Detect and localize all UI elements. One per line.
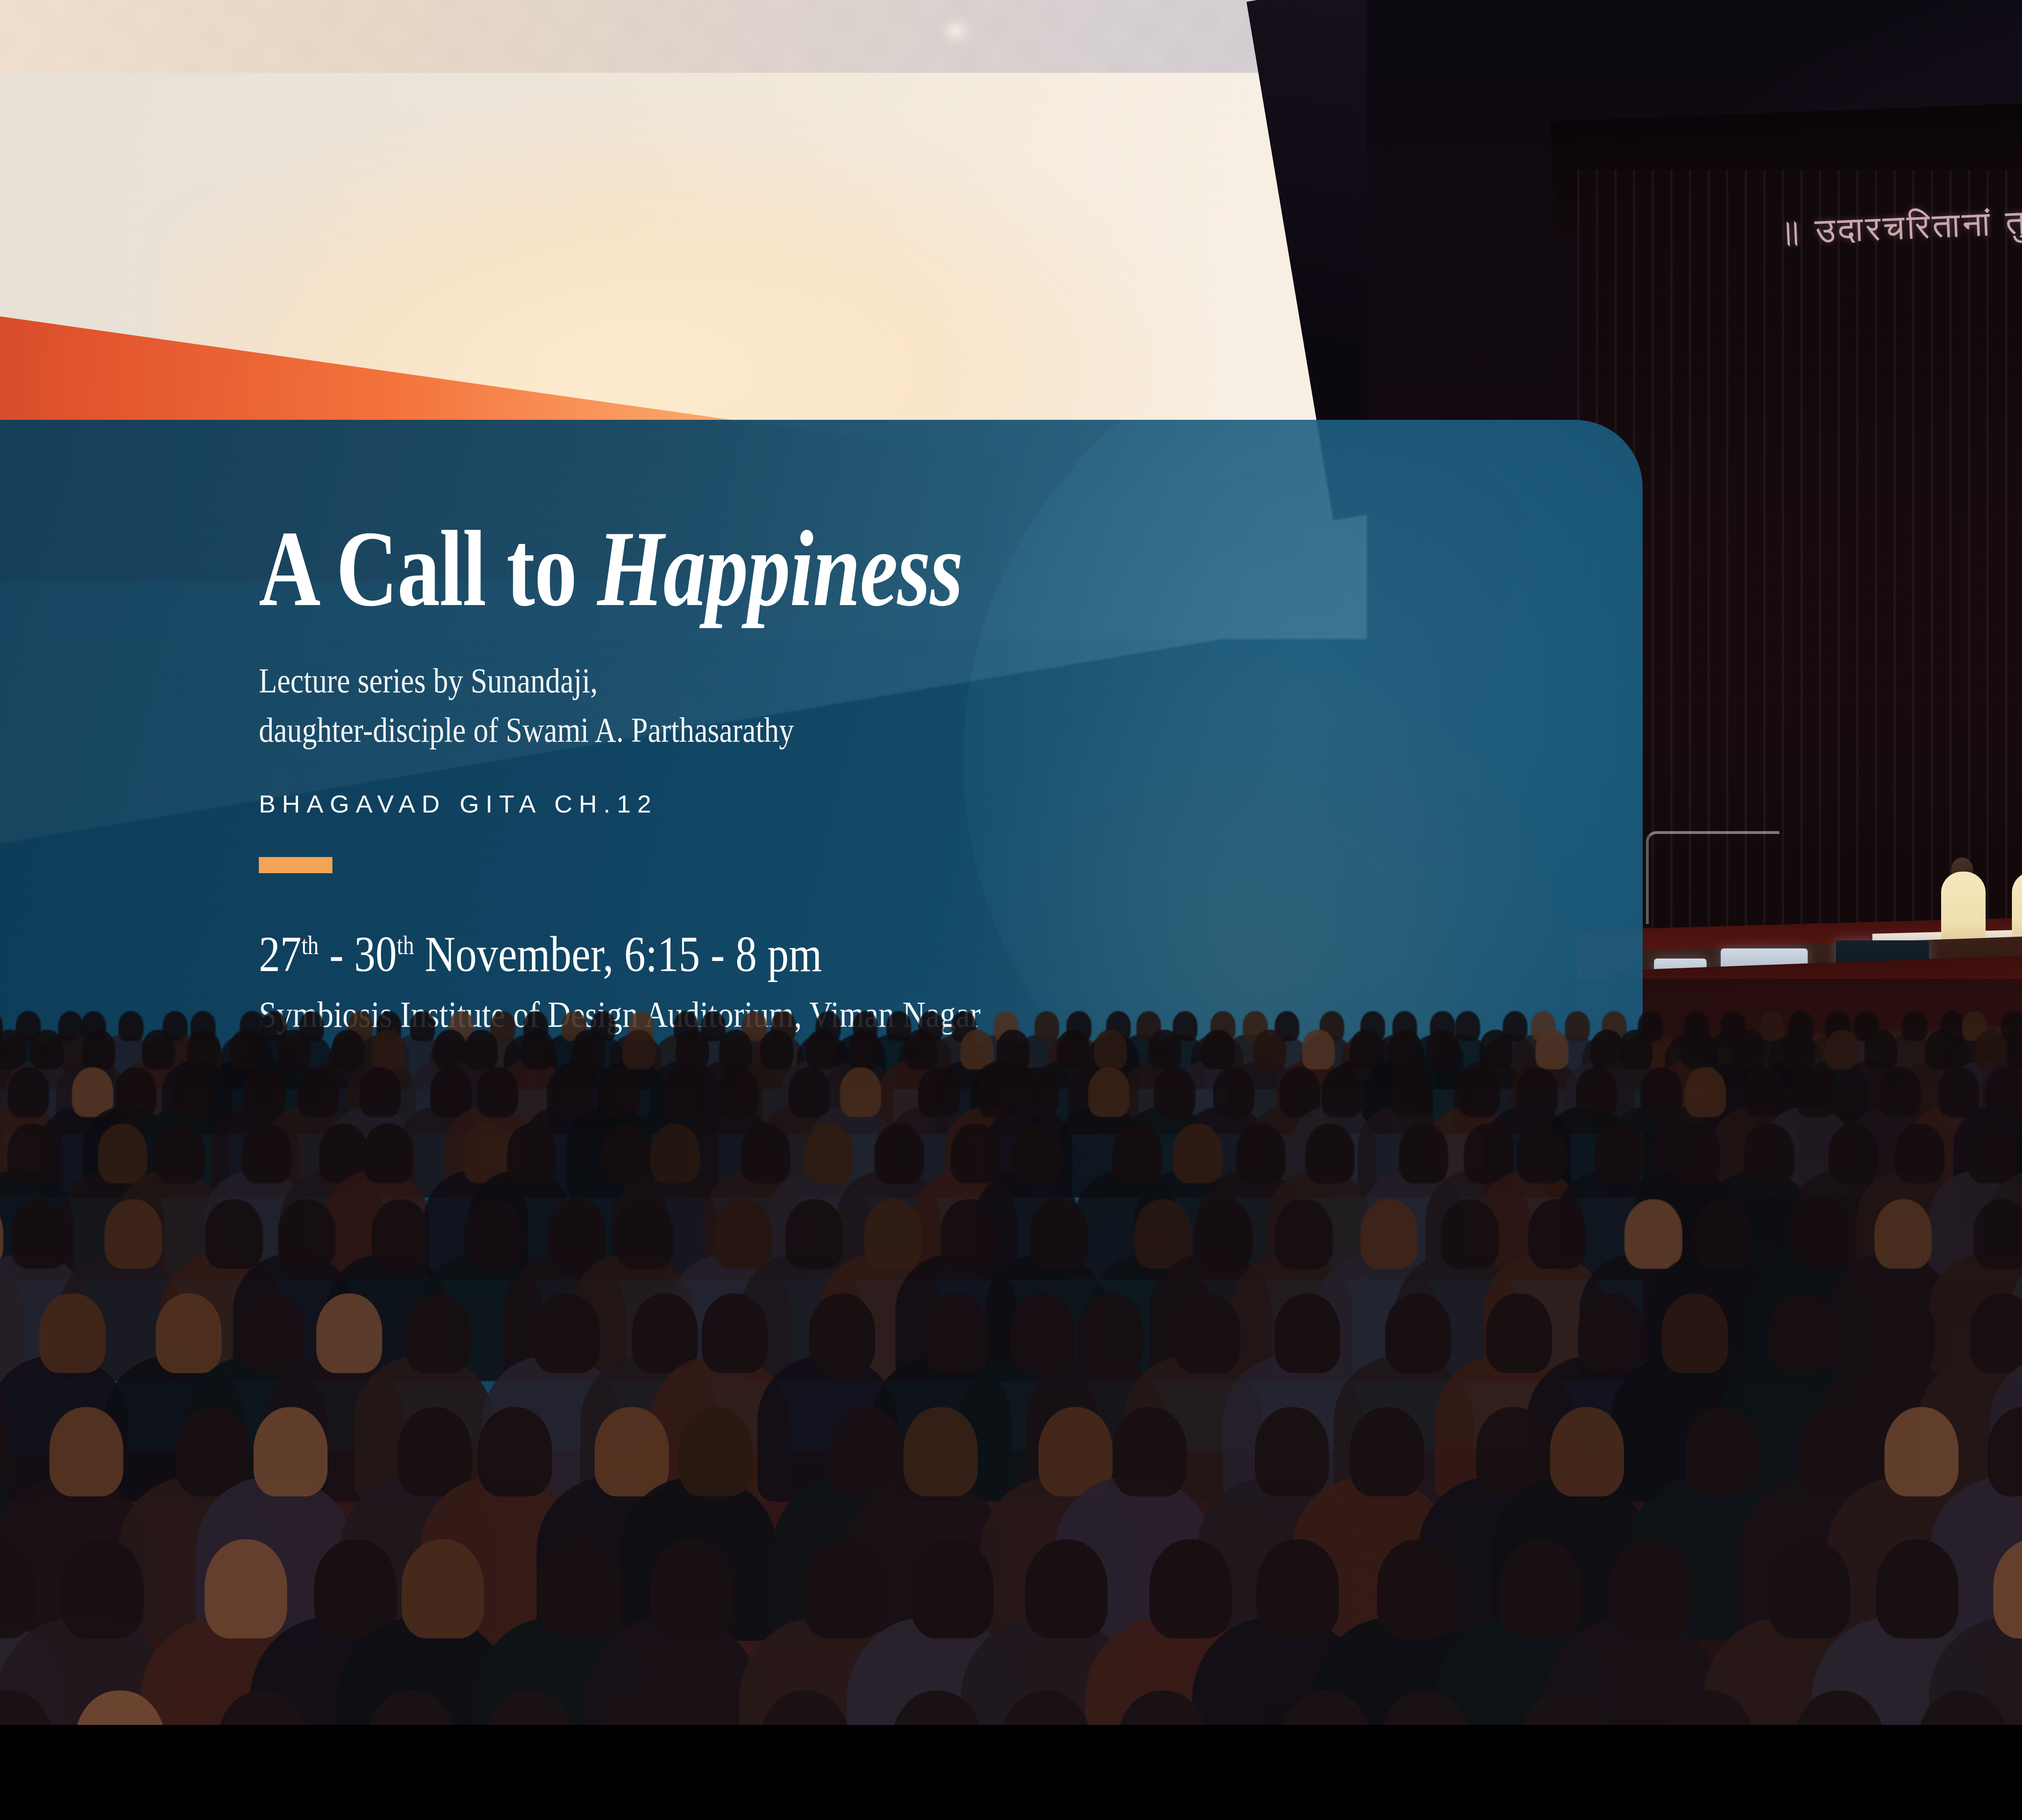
audience-head <box>507 1124 556 1183</box>
title-emphasis: Happiness <box>597 508 962 629</box>
audience-head <box>187 1030 220 1069</box>
audience-head <box>534 1293 600 1373</box>
audience-head <box>402 1539 484 1638</box>
audience-head <box>405 1293 471 1373</box>
audience-head <box>1201 1030 1235 1069</box>
audience-head <box>82 1030 115 1069</box>
date-month-time: November, 6:15 - 8 pm <box>414 927 822 982</box>
audience-head <box>840 1067 881 1117</box>
audience-head <box>332 1030 365 1069</box>
audience-head <box>1685 1407 1759 1496</box>
audience-head <box>941 1199 998 1269</box>
audience-head <box>297 1067 338 1117</box>
audience-head <box>1030 1199 1087 1269</box>
audience-head <box>1973 1199 2022 1269</box>
audience-head <box>410 1011 435 1041</box>
audience-head <box>1399 1124 1448 1183</box>
audience-head <box>1536 1030 1569 1069</box>
audience-head <box>278 1199 336 1269</box>
audience-head <box>142 1030 175 1069</box>
audience-head <box>1195 1199 1252 1269</box>
audience-head <box>363 1124 412 1183</box>
audience-head <box>1377 1539 1459 1638</box>
audience-head <box>1516 1067 1558 1117</box>
audience-head <box>1609 1539 1692 1638</box>
audience-head <box>1938 1067 1980 1117</box>
audience-head <box>548 1199 606 1269</box>
audience-head <box>806 1030 839 1069</box>
date-day-end: 30 <box>354 927 397 982</box>
audience-head <box>118 1011 143 1041</box>
audience-head <box>719 1030 752 1069</box>
subtitle: Lecture series by Sunandaji, daughter-di… <box>259 656 1449 755</box>
audience-head <box>874 1124 924 1183</box>
event-datetime: 27th - 30th November, 6:15 - 8 pm <box>259 926 1435 983</box>
audience-head <box>903 1407 977 1496</box>
audience-head <box>1441 1199 1499 1269</box>
date-day-start: 27 <box>259 927 301 982</box>
audience-head <box>663 1067 704 1117</box>
audience-head <box>1034 1011 1059 1041</box>
audience-head <box>156 1293 222 1373</box>
audience-head <box>1796 1067 1838 1117</box>
date-ordinal-start: th <box>301 931 319 960</box>
audience-head <box>1350 1407 1424 1496</box>
audience-head <box>49 1407 123 1496</box>
audience-head <box>11 1199 69 1269</box>
audience-head <box>1619 1030 1652 1069</box>
audience-head <box>1902 1011 1927 1041</box>
audience-head <box>1769 1293 1835 1373</box>
audience-head <box>1745 1124 1794 1183</box>
audience-head <box>1516 1124 1566 1183</box>
audience-head <box>1885 1407 1959 1496</box>
subtitle-line-2: daughter-disciple of Swami A. Parthasara… <box>259 705 1449 755</box>
audience-head <box>1925 1030 1958 1069</box>
audience-head <box>804 1539 886 1638</box>
audience-head <box>205 1539 287 1638</box>
audience-head <box>1565 1011 1590 1041</box>
audience-head <box>1864 1030 1897 1069</box>
audience-head <box>1154 1067 1195 1117</box>
audience-head <box>864 1199 922 1269</box>
audience-head <box>923 1293 989 1373</box>
audience-head <box>1662 1293 1728 1373</box>
audience-head <box>1213 1067 1254 1117</box>
audience-head <box>477 1067 518 1117</box>
audience-head <box>30 1030 63 1069</box>
audience-head <box>650 1539 732 1638</box>
audience-head <box>1641 1067 1682 1117</box>
audience-head <box>230 1030 263 1069</box>
audience-head <box>717 1067 758 1117</box>
audience-head <box>714 1199 772 1269</box>
audience-head <box>1236 1124 1286 1183</box>
audience-head <box>1499 1539 1582 1638</box>
audience-head <box>1791 1199 1849 1269</box>
audience-head <box>61 1539 144 1638</box>
audience-head <box>1113 1407 1187 1496</box>
audience-head <box>1986 1067 2022 1117</box>
audience-head <box>98 1124 147 1183</box>
audience-head <box>599 1067 640 1117</box>
audience-head <box>1479 1030 1512 1069</box>
audience-head <box>676 1030 709 1069</box>
title-plain: A Call to <box>259 508 597 629</box>
audience-head <box>679 1407 753 1496</box>
audience-head <box>1550 1407 1624 1496</box>
audience-head <box>316 1293 382 1373</box>
date-ordinal-end: th <box>397 931 414 960</box>
audience-head <box>809 1293 875 1373</box>
audience-head <box>39 1293 105 1373</box>
audience-head <box>650 1124 700 1183</box>
audience-head <box>1895 1124 1944 1183</box>
audience-head <box>1876 1539 1959 1638</box>
audience-head <box>1798 1407 1872 1496</box>
audience-head <box>996 1030 1030 1069</box>
audience-head <box>205 1199 263 1269</box>
audience-head <box>1732 1030 1765 1069</box>
audience-head <box>1681 1030 1715 1069</box>
audience-head <box>804 1124 854 1183</box>
audience-head <box>849 1030 882 1069</box>
audience-head <box>1302 1030 1335 1069</box>
audience-head <box>465 1030 498 1069</box>
audience-head <box>1321 1067 1362 1117</box>
audience-head <box>465 1199 523 1269</box>
audience-head <box>785 1199 843 1269</box>
audience-head <box>1464 1124 1513 1183</box>
audience-head <box>242 1124 291 1183</box>
audience-head <box>244 1067 285 1117</box>
audience-head <box>1305 1124 1355 1183</box>
audience-head <box>594 1407 668 1496</box>
page-title: A Call to Happiness <box>259 514 1352 623</box>
scripture-kicker: BHAGAVAD GITA CH.12 <box>259 789 1643 818</box>
audience-head <box>1685 1067 1726 1117</box>
audience-head <box>360 1067 401 1117</box>
event-poster: ॥ उदारचरितानां तु वसुधैव कुटुम्बकम् ॥ 18… <box>0 0 2022 1820</box>
seated-person <box>1941 872 1986 946</box>
audience-head <box>1458 1067 1500 1117</box>
audience-head <box>1671 1124 1720 1183</box>
audience-head <box>239 1293 305 1373</box>
audience-head <box>1869 1293 1935 1373</box>
audience-head <box>741 1124 790 1183</box>
audience-head <box>478 1407 552 1496</box>
audience-head <box>1829 1124 1878 1183</box>
audience-head <box>372 1030 405 1069</box>
audience-head <box>1173 1124 1222 1183</box>
audience-head <box>1426 1030 1459 1069</box>
audience-head <box>1528 1199 1586 1269</box>
audience-head <box>521 1030 554 1069</box>
audience-head <box>1744 1067 1785 1117</box>
audience-head <box>398 1407 472 1496</box>
audience-head <box>1879 1067 1920 1117</box>
audience-head <box>789 1067 830 1117</box>
audience-head <box>1057 1030 1090 1069</box>
audience-head <box>1389 1030 1422 1069</box>
audience-head <box>1486 1293 1552 1373</box>
audience-head <box>1078 1293 1144 1373</box>
audience-head <box>622 1030 656 1069</box>
audience-head <box>1390 1067 1431 1117</box>
audience-head <box>1576 1067 1617 1117</box>
audience-head <box>254 1407 328 1496</box>
audience-head <box>1782 1030 1815 1069</box>
accent-rule <box>259 857 332 873</box>
audience-head <box>115 1067 157 1117</box>
audience-head <box>1578 1293 1644 1373</box>
audience-head <box>1694 1199 1752 1269</box>
audience-head <box>1360 1199 1418 1269</box>
audience-head <box>1013 1124 1062 1183</box>
audience-head <box>760 1030 793 1069</box>
audience-head <box>8 1067 49 1117</box>
audience-head <box>615 1199 673 1269</box>
audience-head <box>1017 1067 1058 1117</box>
audience-head <box>553 1067 594 1117</box>
subtitle-line-1: Lecture series by Sunandaji, <box>259 656 1449 705</box>
audience-head <box>918 1067 959 1117</box>
stage-railing <box>1646 831 1779 924</box>
audience-head <box>572 1030 605 1069</box>
audience-head <box>1455 1011 1480 1041</box>
audience-head <box>173 1067 215 1117</box>
audience-head <box>1760 1011 1784 1041</box>
audience-head <box>951 1124 1000 1183</box>
audience-head <box>1874 1199 1932 1269</box>
audience-head <box>702 1293 768 1373</box>
audience-head <box>7 1124 57 1183</box>
audience-head <box>1094 1030 1127 1069</box>
audience-head <box>1149 1539 1232 1638</box>
audience-head <box>904 1030 937 1069</box>
audience-head <box>1088 1067 1129 1117</box>
audience-head <box>372 1199 429 1269</box>
audience-head <box>1274 1293 1340 1373</box>
audience-head <box>1349 1030 1383 1069</box>
ceiling-light-icon <box>946 25 965 37</box>
audience-head <box>1967 1124 2017 1183</box>
audience-head <box>911 1539 994 1638</box>
audience-head <box>277 1030 310 1069</box>
audience-head <box>1113 1124 1162 1183</box>
audience-head <box>1385 1293 1451 1373</box>
audience-head <box>156 1124 205 1183</box>
audience-head <box>1256 1539 1339 1638</box>
audience-head <box>1595 1124 1644 1183</box>
letterbox-bar <box>0 1725 2022 1820</box>
audience-head <box>1275 1199 1333 1269</box>
audience-head <box>1148 1030 1181 1069</box>
audience-head <box>430 1067 472 1117</box>
audience-head <box>539 1539 621 1638</box>
audience-head <box>1025 1539 1108 1638</box>
audience-head <box>1255 1407 1329 1496</box>
date-separator: - <box>319 927 354 982</box>
audience-head <box>1174 1293 1240 1373</box>
audience-head <box>1253 1030 1286 1069</box>
audience-head <box>104 1199 162 1269</box>
audience-head <box>1768 1539 1850 1638</box>
audience-head <box>1624 1199 1682 1269</box>
audience-head <box>1825 1030 1859 1069</box>
audience-head <box>314 1539 397 1638</box>
